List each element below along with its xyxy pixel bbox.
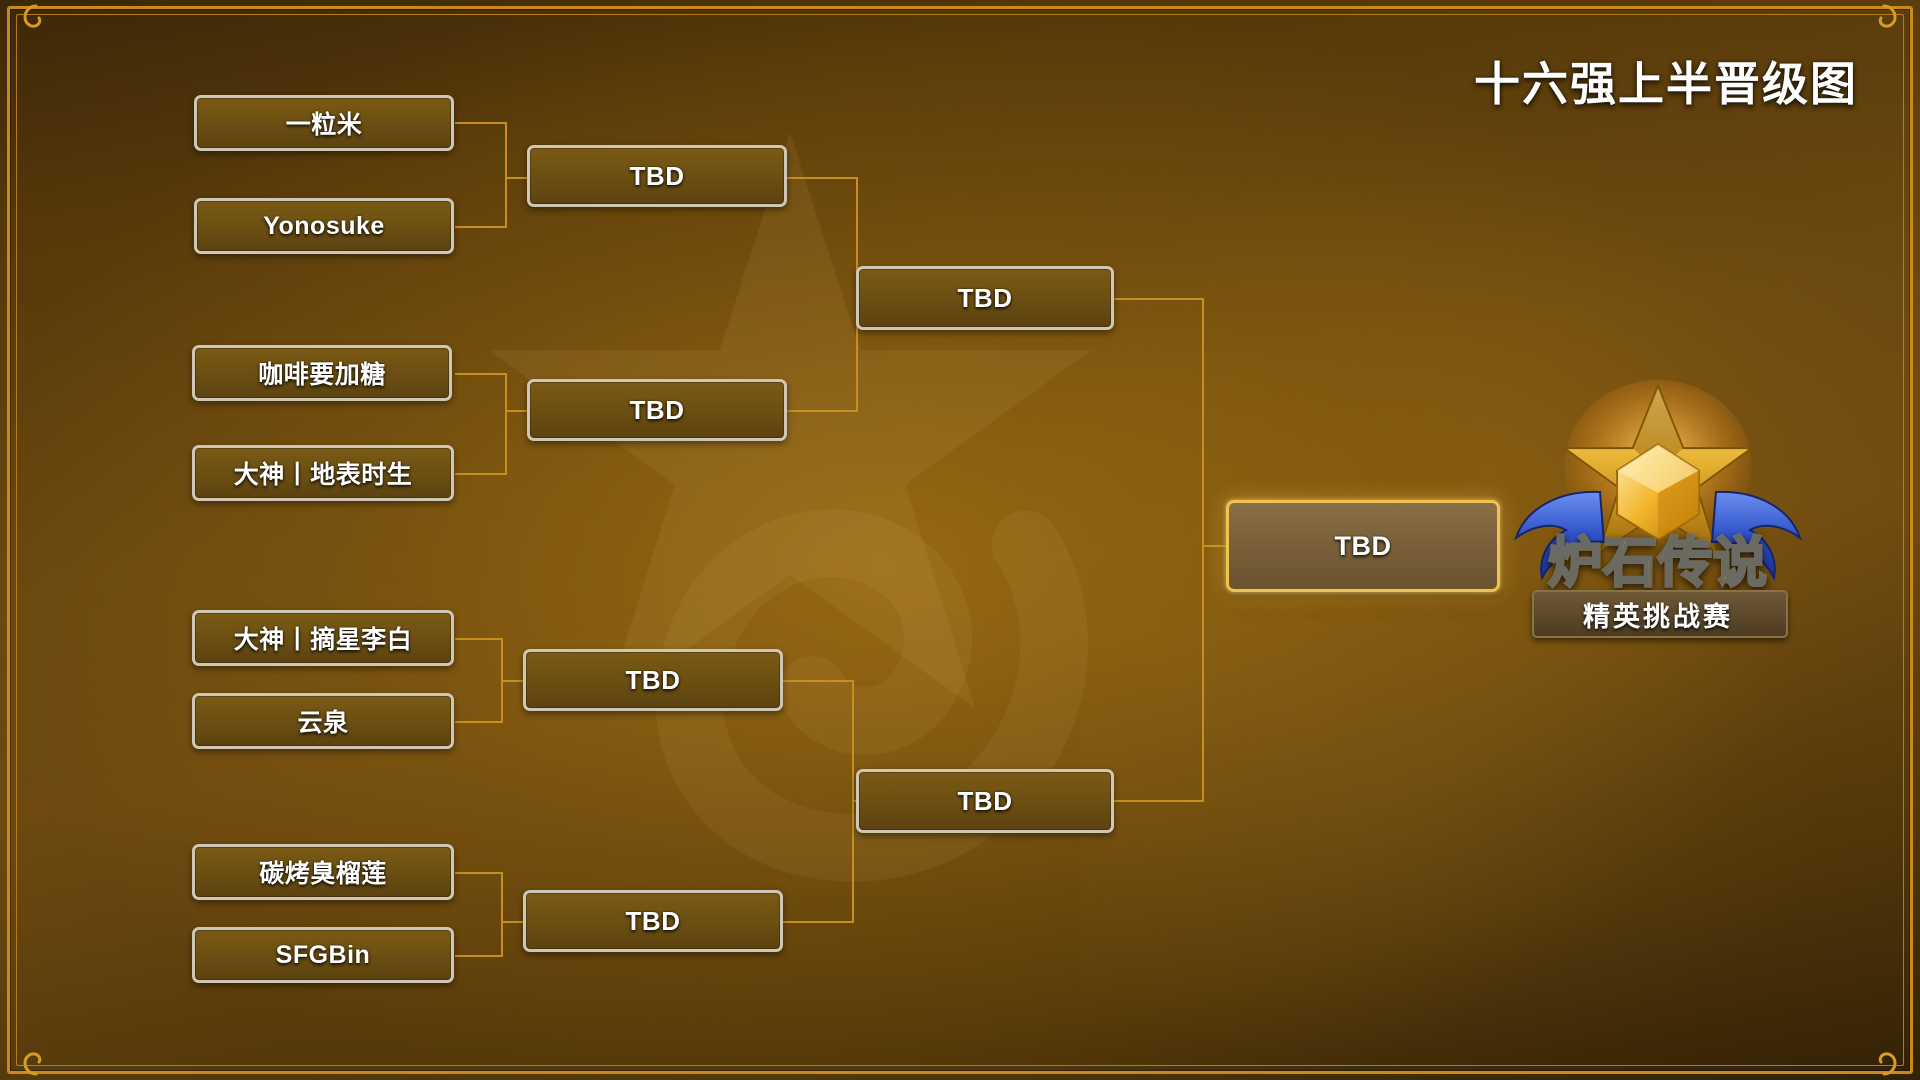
connector <box>501 921 525 923</box>
bracket-slot-label: TBD <box>630 161 685 192</box>
connector <box>455 373 507 375</box>
bracket-slot-r3-1[interactable]: TBD <box>856 266 1114 330</box>
corner-flourish-icon <box>6 2 80 76</box>
bracket-slot-r1-8[interactable]: SFGBin <box>192 927 454 983</box>
bracket-slot-label: Yonosuke <box>263 212 385 241</box>
bracket-slot-r3-2[interactable]: TBD <box>856 769 1114 833</box>
connector <box>1202 298 1204 802</box>
connector <box>1202 545 1228 547</box>
connector <box>852 680 854 923</box>
bracket-slot-label: TBD <box>1335 531 1392 562</box>
bracket-slot-label: 云泉 <box>297 703 348 739</box>
connector <box>505 177 529 179</box>
bracket-stage: 十六强上半晋级图 一粒米 Yonosuke 咖啡要加糖 大神丨地表时生 <box>0 0 1920 1080</box>
bracket-slot-label: 碳烤臭榴莲 <box>259 854 387 890</box>
hearthstone-logo: 炉石传说 精英挑战赛 <box>1508 378 1808 663</box>
bracket-slot-label: TBD <box>630 395 685 426</box>
bracket-slot-r1-1[interactable]: 一粒米 <box>194 95 454 151</box>
connector <box>786 410 858 412</box>
bracket-slot-champion[interactable]: TBD <box>1226 500 1500 592</box>
glow-watermark <box>1080 620 1840 1080</box>
connector <box>455 226 507 228</box>
bracket-slot-r1-2[interactable]: Yonosuke <box>194 198 454 254</box>
connector <box>505 410 529 412</box>
logo-wordmark: 炉石传说 <box>1508 518 1808 597</box>
connector <box>501 638 503 723</box>
connector <box>786 177 858 179</box>
bracket-slot-label: TBD <box>958 283 1013 314</box>
bracket-slot-label: SFGBin <box>276 941 371 970</box>
connector <box>455 638 503 640</box>
bracket-slot-label: 大神丨地表时生 <box>234 455 413 491</box>
bracket-slot-r2-4[interactable]: TBD <box>523 890 783 952</box>
connector <box>782 680 854 682</box>
connector <box>455 872 503 874</box>
connector <box>501 872 503 957</box>
connector <box>501 680 525 682</box>
bracket-slot-r2-2[interactable]: TBD <box>527 379 787 441</box>
connector <box>505 373 507 475</box>
logo-subtitle: 精英挑战赛 <box>1532 592 1784 636</box>
connector <box>505 122 507 228</box>
bracket-slot-label: 一粒米 <box>286 105 363 141</box>
corner-flourish-icon <box>1840 1004 1914 1078</box>
connector <box>455 122 507 124</box>
bracket-slot-r2-3[interactable]: TBD <box>523 649 783 711</box>
bracket-slot-r1-5[interactable]: 大神丨摘星李白 <box>192 610 454 666</box>
bracket-slot-r2-1[interactable]: TBD <box>527 145 787 207</box>
bracket-slot-r1-3[interactable]: 咖啡要加糖 <box>192 345 452 401</box>
bracket-slot-label: TBD <box>626 665 681 696</box>
connector <box>455 473 507 475</box>
bracket-slot-label: TBD <box>626 906 681 937</box>
connector <box>455 721 503 723</box>
bracket-slot-label: 咖啡要加糖 <box>258 355 386 391</box>
bracket-slot-r1-7[interactable]: 碳烤臭榴莲 <box>192 844 454 900</box>
bracket-slot-r1-4[interactable]: 大神丨地表时生 <box>192 445 454 501</box>
bracket-slot-r1-6[interactable]: 云泉 <box>192 693 454 749</box>
connector <box>455 955 503 957</box>
bracket-slot-label: 大神丨摘星李白 <box>234 620 413 656</box>
corner-flourish-icon <box>6 1004 80 1078</box>
connector <box>1114 298 1204 300</box>
bracket-slot-label: TBD <box>958 786 1013 817</box>
connector <box>782 921 854 923</box>
page-title: 十六强上半晋级图 <box>1474 48 1858 114</box>
connector <box>1114 800 1204 802</box>
